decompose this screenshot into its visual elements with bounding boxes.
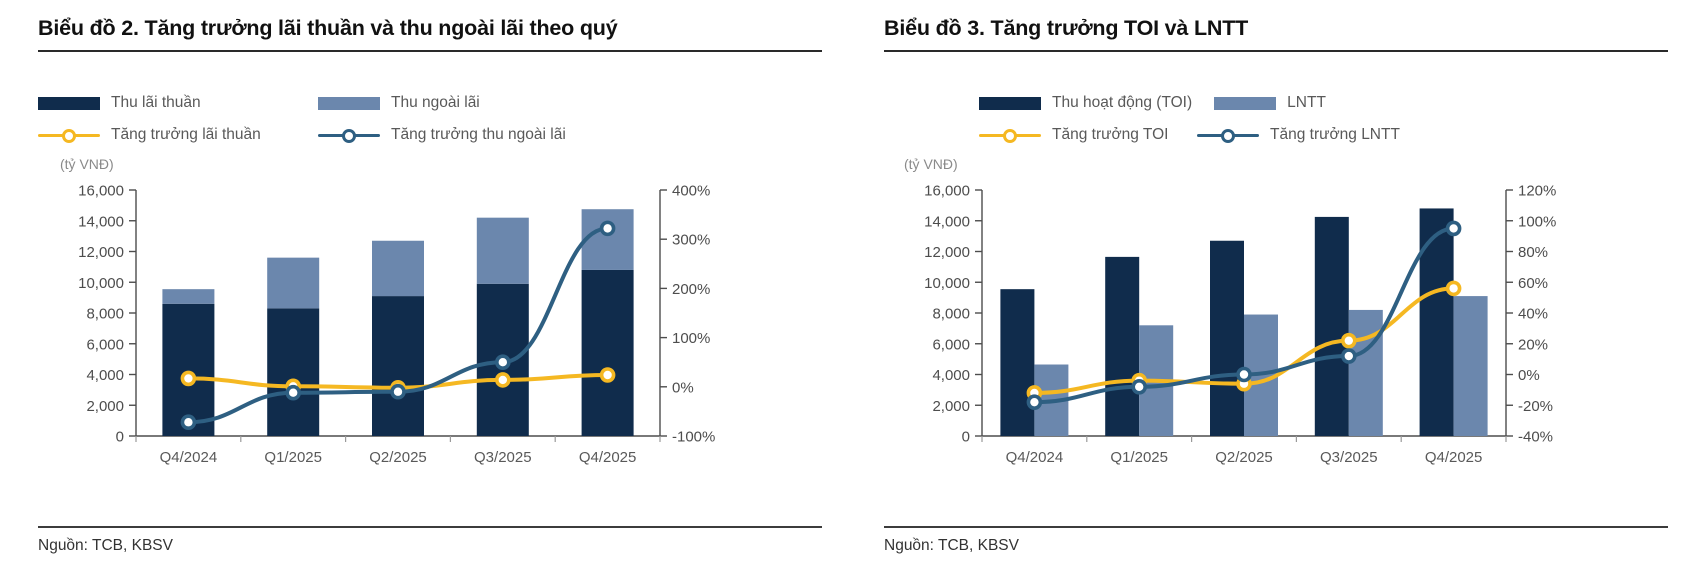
svg-text:Q1/2025: Q1/2025 xyxy=(264,449,322,466)
chart-plot-area: 02,0004,0006,0008,00010,00012,00014,0001… xyxy=(38,174,822,444)
chart-svg: 02,0004,0006,0008,00010,00012,00014,0001… xyxy=(884,174,1654,474)
svg-text:6,000: 6,000 xyxy=(932,336,970,353)
legend-item-tang-truong-toi[interactable]: Tăng trưởng TOI xyxy=(979,126,1197,144)
page-title: Biểu đồ 3. Tăng trưởng TOI và LNTT xyxy=(884,0,1668,50)
legend-line-marker-icon xyxy=(979,128,1041,142)
chart-panel-3: Biểu đồ 3. Tăng trưởng TOI và LNTT Thu h… xyxy=(846,0,1692,577)
charts-page: Biểu đồ 2. Tăng trưởng lãi thuần và thu … xyxy=(0,0,1692,577)
legend-swatch-icon xyxy=(38,97,100,110)
svg-text:80%: 80% xyxy=(1518,244,1548,261)
svg-text:60%: 60% xyxy=(1518,275,1548,292)
legend-line-marker-icon xyxy=(318,128,380,142)
svg-text:Q3/2025: Q3/2025 xyxy=(1320,449,1378,466)
svg-text:2,000: 2,000 xyxy=(932,398,970,415)
chart-footer: Nguồn: TCB, KBSV xyxy=(38,526,822,555)
legend-row-lines: Tăng trưởng TOI Tăng trưởng LNTT xyxy=(884,126,1668,144)
chart-panel-2: Biểu đồ 2. Tăng trưởng lãi thuần và thu … xyxy=(0,0,846,577)
svg-text:-40%: -40% xyxy=(1518,429,1553,446)
legend-swatch-icon xyxy=(318,97,380,110)
svg-text:Q4/2025: Q4/2025 xyxy=(579,449,637,466)
svg-text:-100%: -100% xyxy=(672,429,715,446)
legend-item-tang-truong-lai-thuan[interactable]: Tăng trưởng lãi thuần xyxy=(38,126,318,144)
legend-row-lines: Tăng trưởng lãi thuần Tăng trưởng thu ng… xyxy=(38,126,822,144)
svg-text:0%: 0% xyxy=(672,379,694,396)
legend-row-bars: Thu lãi thuần Thu ngoài lãi xyxy=(38,94,822,112)
svg-text:0: 0 xyxy=(962,429,970,446)
svg-text:8,000: 8,000 xyxy=(86,306,124,323)
svg-text:4,000: 4,000 xyxy=(932,367,970,384)
legend-label: Thu lãi thuần xyxy=(111,94,201,112)
page-title: Biểu đồ 2. Tăng trưởng lãi thuần và thu … xyxy=(38,0,822,50)
svg-text:100%: 100% xyxy=(672,330,710,347)
svg-text:6,000: 6,000 xyxy=(86,336,124,353)
source-note: Nguồn: TCB, KBSV xyxy=(38,528,822,555)
legend-line-marker-icon xyxy=(38,128,100,142)
legend-label: Tăng trưởng lãi thuần xyxy=(111,126,261,144)
legend-label: Tăng trưởng thu ngoài lãi xyxy=(391,126,566,144)
legend-item-thu-lai-thuan[interactable]: Thu lãi thuần xyxy=(38,94,318,112)
chart-plot-area: 02,0004,0006,0008,00010,00012,00014,0001… xyxy=(884,174,1668,444)
chart-legend: Thu hoạt động (TOI) LNTT Tăng trưởng TOI xyxy=(884,94,1668,144)
svg-text:300%: 300% xyxy=(672,232,710,249)
svg-text:16,000: 16,000 xyxy=(78,183,124,200)
legend-item-thu-hoat-dong[interactable]: Thu hoạt động (TOI) xyxy=(979,94,1192,112)
svg-text:0: 0 xyxy=(116,429,124,446)
svg-text:Q3/2025: Q3/2025 xyxy=(474,449,532,466)
legend-label: Thu ngoài lãi xyxy=(391,94,480,112)
legend-item-thu-ngoai-lai[interactable]: Thu ngoài lãi xyxy=(318,94,480,112)
svg-text:120%: 120% xyxy=(1518,183,1556,200)
svg-text:12,000: 12,000 xyxy=(924,244,970,261)
svg-text:Q1/2025: Q1/2025 xyxy=(1110,449,1168,466)
legend-line-marker-icon xyxy=(1197,128,1259,142)
svg-text:12,000: 12,000 xyxy=(78,244,124,261)
svg-text:0%: 0% xyxy=(1518,367,1540,384)
legend-label: Tăng trưởng LNTT xyxy=(1270,126,1400,144)
svg-text:400%: 400% xyxy=(672,183,710,200)
svg-text:14,000: 14,000 xyxy=(78,213,124,230)
source-note: Nguồn: TCB, KBSV xyxy=(884,528,1668,555)
svg-text:2,000: 2,000 xyxy=(86,398,124,415)
svg-text:20%: 20% xyxy=(1518,336,1548,353)
svg-text:8,000: 8,000 xyxy=(932,306,970,323)
svg-text:4,000: 4,000 xyxy=(86,367,124,384)
svg-text:Q4/2025: Q4/2025 xyxy=(1425,449,1483,466)
title-divider xyxy=(38,50,822,52)
svg-text:16,000: 16,000 xyxy=(924,183,970,200)
svg-text:-20%: -20% xyxy=(1518,398,1553,415)
chart-svg: 02,0004,0006,0008,00010,00012,00014,0001… xyxy=(38,174,808,474)
svg-text:14,000: 14,000 xyxy=(924,213,970,230)
title-divider xyxy=(884,50,1668,52)
legend-label: LNTT xyxy=(1287,94,1326,112)
legend-row-bars: Thu hoạt động (TOI) LNTT xyxy=(884,94,1668,112)
svg-text:200%: 200% xyxy=(672,281,710,298)
svg-text:40%: 40% xyxy=(1518,306,1548,323)
svg-text:Q4/2024: Q4/2024 xyxy=(1006,449,1064,466)
svg-text:Q2/2025: Q2/2025 xyxy=(369,449,427,466)
y-axis-unit-label: (tỷ VNĐ) xyxy=(884,156,1668,172)
legend-label: Tăng trưởng TOI xyxy=(1052,126,1168,144)
legend-swatch-icon xyxy=(979,97,1041,110)
chart-legend: Thu lãi thuần Thu ngoài lãi Tăng trưởng … xyxy=(38,94,822,144)
svg-text:Q2/2025: Q2/2025 xyxy=(1215,449,1273,466)
chart-footer: Nguồn: TCB, KBSV xyxy=(884,526,1668,555)
legend-label: Thu hoạt động (TOI) xyxy=(1052,94,1192,112)
y-axis-unit-label: (tỷ VNĐ) xyxy=(38,156,822,172)
legend-item-lntt[interactable]: LNTT xyxy=(1214,94,1326,112)
svg-text:100%: 100% xyxy=(1518,213,1556,230)
svg-text:Q4/2024: Q4/2024 xyxy=(160,449,218,466)
svg-text:10,000: 10,000 xyxy=(78,275,124,292)
legend-swatch-icon xyxy=(1214,97,1276,110)
legend-item-tang-truong-thu-ngoai-lai[interactable]: Tăng trưởng thu ngoài lãi xyxy=(318,126,566,144)
legend-item-tang-truong-lntt[interactable]: Tăng trưởng LNTT xyxy=(1197,126,1400,144)
svg-text:10,000: 10,000 xyxy=(924,275,970,292)
